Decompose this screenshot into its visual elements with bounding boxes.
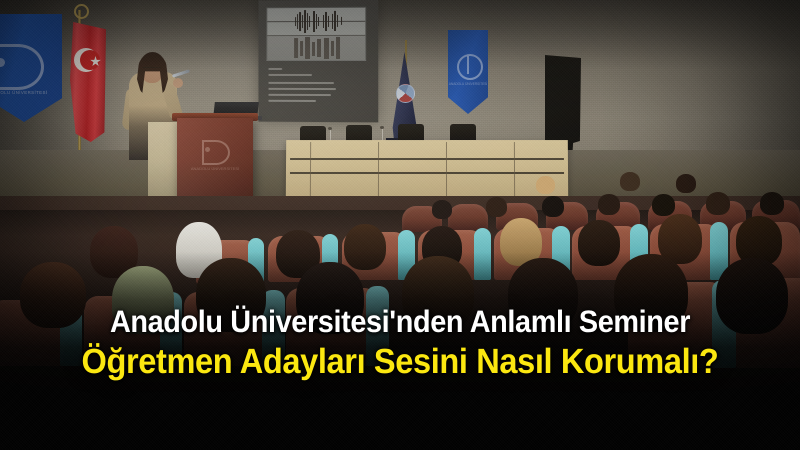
headline-line-primary: Anadolu Üniversitesi'nden Anlamlı Semine…: [28, 306, 772, 337]
headline-block: Anadolu Üniversitesi'nden Anlamlı Semine…: [0, 306, 800, 379]
photo-grain: [0, 0, 800, 450]
headline-line-secondary: Öğretmen Adayları Sesini Nasıl Korumalı?: [28, 344, 772, 379]
news-photo-card: ANADOLU ÜNİVERSİTESİ ANADOLU ÜNİVERSİTES…: [0, 0, 800, 450]
